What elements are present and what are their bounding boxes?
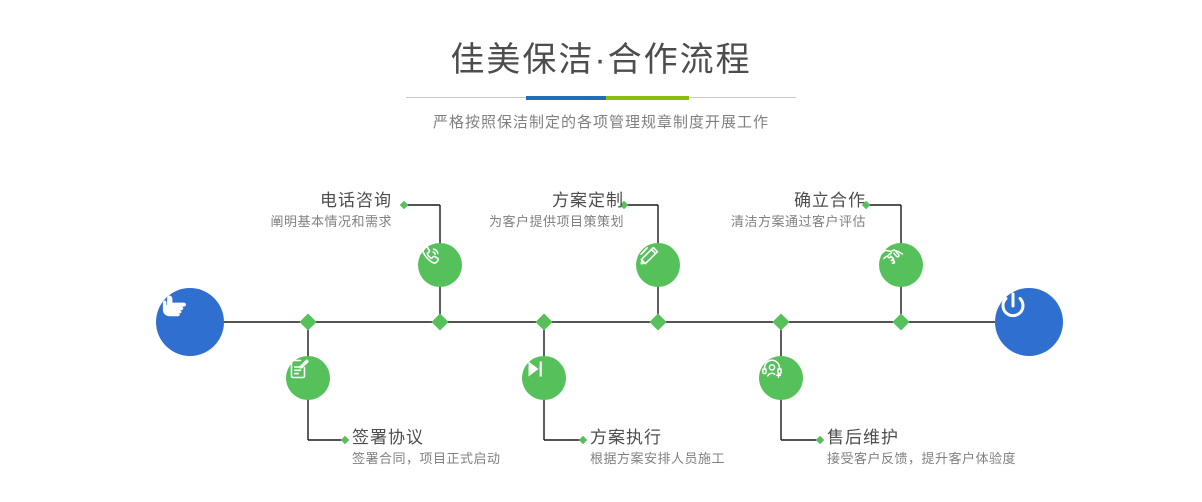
step-label-phone-consult: 电话咨询 阐明基本情况和需求 bbox=[270, 190, 392, 232]
step-title: 方案执行 bbox=[590, 427, 725, 449]
step-description: 为客户提供项目策策划 bbox=[489, 212, 624, 232]
step-description: 清洁方案通过客户评估 bbox=[731, 212, 866, 232]
flow-start-node[interactable] bbox=[156, 288, 224, 356]
step-label-after-sales: 售后维护 接受客户反馈，提升客户体验度 bbox=[827, 427, 1016, 469]
flow-diagram: 电话咨询 阐明基本情况和需求 签署协议 签署合同，项目正式启动 bbox=[0, 0, 1202, 502]
step-node-after-sales[interactable] bbox=[759, 356, 803, 400]
step-description: 根据方案安排人员施工 bbox=[590, 449, 725, 469]
step-label-plan-customization: 方案定制 为客户提供项目策策划 bbox=[489, 190, 624, 232]
step-description: 签署合同，项目正式启动 bbox=[352, 449, 501, 469]
step-label-plan-execution: 方案执行 根据方案安排人员施工 bbox=[590, 427, 725, 469]
cooperation-flow-infographic: 佳美保洁·合作流程 严格按照保洁制定的各项管理规章制度开展工作 bbox=[0, 0, 1202, 502]
step-node-plan-execution[interactable] bbox=[522, 356, 566, 400]
step-label-sign-agreement: 签署协议 签署合同，项目正式启动 bbox=[352, 427, 501, 469]
step-title: 方案定制 bbox=[489, 190, 624, 212]
step-title: 售后维护 bbox=[827, 427, 1016, 449]
step-description: 阐明基本情况和需求 bbox=[270, 212, 392, 232]
step-title: 确立合作 bbox=[731, 190, 866, 212]
step-description: 接受客户反馈，提升客户体验度 bbox=[827, 449, 1016, 469]
step-title: 签署协议 bbox=[352, 427, 501, 449]
step-title: 电话咨询 bbox=[270, 190, 392, 212]
step-node-sign-agreement[interactable] bbox=[286, 356, 330, 400]
step-node-plan-customization[interactable] bbox=[636, 243, 680, 287]
step-node-phone-consult[interactable] bbox=[418, 243, 462, 287]
flow-end-node[interactable] bbox=[995, 288, 1063, 356]
step-node-establish-cooperation[interactable] bbox=[879, 243, 923, 287]
step-label-establish-cooperation: 确立合作 清洁方案通过客户评估 bbox=[731, 190, 866, 232]
